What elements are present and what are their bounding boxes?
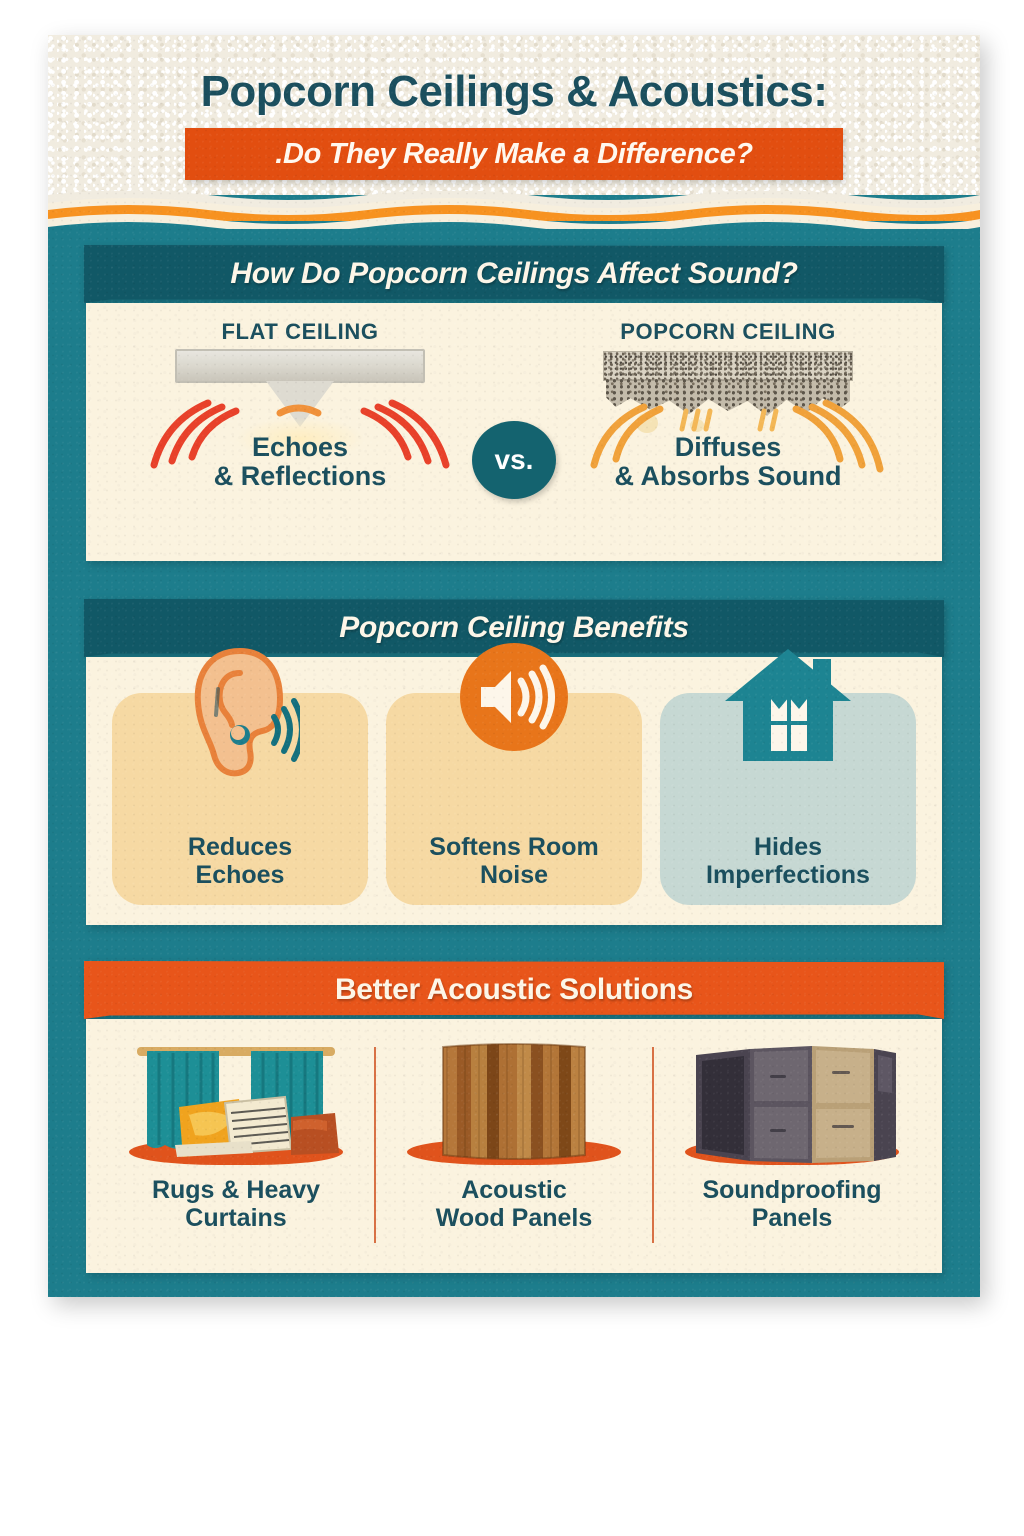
solution-label-line2: Panels	[702, 1205, 881, 1233]
section-banner-how-sound: How Do Popcorn Ceilings Affect Sound?	[84, 245, 944, 303]
page-title: Popcorn Ceilings & Acoustics:	[48, 35, 980, 117]
benefit-card-hides-imperfections: Hides Imperfections	[660, 693, 916, 905]
section-how-sound: How Do Popcorn Ceilings Affect Sound? FL…	[48, 245, 980, 561]
section-banner-label: How Do Popcorn Ceilings Affect Sound?	[230, 257, 797, 291]
benefit-label-line1: Softens Room	[429, 833, 598, 861]
infographic-poster: Popcorn Ceilings & Acoustics: .Do They R…	[48, 35, 980, 1297]
benefit-label-line2: Noise	[429, 861, 598, 889]
wave-divider-svg	[48, 191, 980, 239]
subtitle-text: .Do They Really Make a Difference?	[275, 138, 753, 171]
solution-item-label: Rugs & Heavy Curtains	[152, 1177, 320, 1232]
popcorn-ceiling-slab	[603, 351, 853, 381]
section-banner-label: Better Acoustic Solutions	[335, 973, 693, 1007]
flat-caption-line1: Echoes	[86, 433, 514, 462]
section-solutions: Better Acoustic Solutions	[48, 961, 980, 1273]
popcorn-ceiling-caption: Diffuses & Absorbs Sound	[514, 433, 942, 490]
popcorn-ceiling-heading: POPCORN CEILING	[514, 319, 942, 345]
flat-ceiling-caption: Echoes & Reflections	[86, 433, 514, 490]
speaker-icon	[460, 643, 568, 751]
benefits-panel: Reduces Echoes	[86, 657, 942, 925]
solution-item-label: Soundproofing Panels	[702, 1177, 881, 1232]
wood-panel-illustration	[380, 1033, 648, 1171]
solution-item-wood-panels: Acoustic Wood Panels	[380, 1033, 648, 1257]
curtains-and-rugs-illustration	[102, 1033, 370, 1171]
solution-label-line2: Wood Panels	[436, 1205, 593, 1233]
flat-ceiling-heading: FLAT CEILING	[86, 319, 514, 345]
benefit-label-line1: Reduces	[188, 833, 292, 861]
benefit-card-label: Hides Imperfections	[706, 833, 870, 889]
solution-label-line1: Acoustic	[436, 1177, 593, 1205]
versus-label: vs.	[495, 444, 534, 476]
solution-label-line1: Soundproofing	[702, 1177, 881, 1205]
solution-item-soundproofing: Soundproofing Panels	[658, 1033, 926, 1257]
subtitle-banner: .Do They Really Make a Difference?	[185, 128, 843, 180]
section-benefits: Popcorn Ceiling Benefits	[48, 599, 980, 925]
speaker-icon-wrapper	[460, 643, 568, 751]
benefit-card-softens-noise: Softens Room Noise	[386, 693, 642, 905]
benefit-label-line1: Hides	[706, 833, 870, 861]
benefit-card-label: Reduces Echoes	[188, 833, 292, 889]
benefit-card-reduces-echoes: Reduces Echoes	[112, 693, 368, 905]
solution-divider	[374, 1047, 376, 1243]
section-banner-label: Popcorn Ceiling Benefits	[339, 611, 689, 645]
benefit-label-line2: Imperfections	[706, 861, 870, 889]
solution-item-label: Acoustic Wood Panels	[436, 1177, 593, 1232]
solutions-panel: Rugs & Heavy Curtains	[86, 1019, 942, 1273]
ear-icon	[180, 643, 300, 783]
solution-item-curtains: Rugs & Heavy Curtains	[102, 1033, 370, 1257]
flat-caption-line2: & Reflections	[86, 462, 514, 491]
section-banner-solutions: Better Acoustic Solutions	[84, 961, 944, 1019]
comparison-column-flat: FLAT CEILING	[86, 303, 514, 561]
house-icon	[721, 643, 855, 775]
versus-badge: vs.	[472, 421, 556, 499]
solution-label-line2: Curtains	[152, 1205, 320, 1233]
benefit-label-line2: Echoes	[188, 861, 292, 889]
popcorn-caption-line1: Diffuses	[514, 433, 942, 462]
poster-header: Popcorn Ceilings & Acoustics: .Do They R…	[48, 35, 980, 195]
soundproofing-panels-illustration	[658, 1033, 926, 1171]
benefit-card-label: Softens Room Noise	[429, 833, 598, 889]
comparison-column-popcorn: POPCORN CEILING	[514, 303, 942, 561]
solution-label-line1: Rugs & Heavy	[152, 1177, 320, 1205]
comparison-panel: FLAT CEILING	[86, 303, 942, 561]
wave-divider	[48, 191, 980, 239]
solution-divider	[652, 1047, 654, 1243]
popcorn-caption-line2: & Absorbs Sound	[514, 462, 942, 491]
